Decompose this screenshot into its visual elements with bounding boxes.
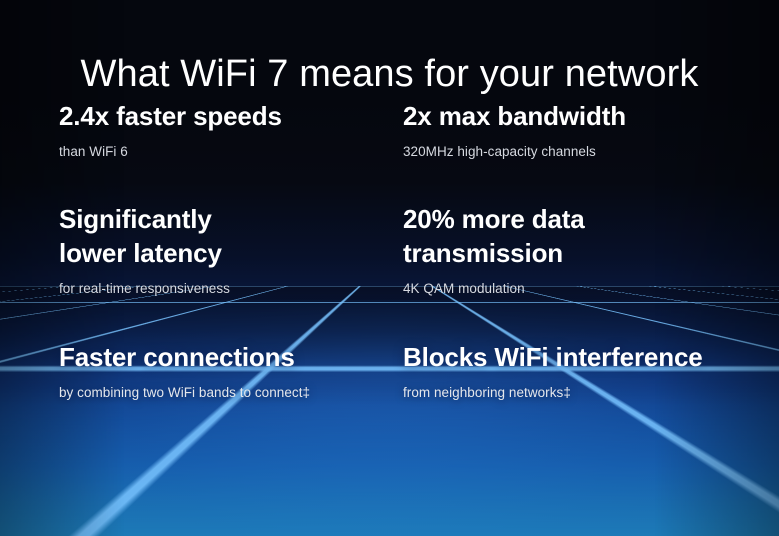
feature-title: Significantly lower latency (59, 203, 404, 271)
feature-title-line-2: transmission (403, 238, 563, 268)
feature-item-blocks-interference: Blocks WiFi interference from neighborin… (403, 341, 748, 402)
wifi7-benefits-graphic: What WiFi 7 means for your network 2.4x … (0, 0, 779, 536)
feature-subtitle: 320MHz high-capacity channels (403, 143, 748, 161)
feature-title-line-1: 20% more data (403, 204, 585, 234)
feature-title: 20% more data transmission (403, 203, 748, 271)
feature-item-max-bandwidth: 2x max bandwidth 320MHz high-capacity ch… (403, 100, 748, 161)
feature-subtitle: from neighboring networks‡ (403, 384, 748, 402)
feature-subtitle: for real-time responsiveness (59, 280, 404, 298)
feature-title: Faster connections (59, 341, 404, 375)
content-layer: What WiFi 7 means for your network 2.4x … (0, 0, 779, 536)
feature-title: Blocks WiFi interference (403, 341, 748, 375)
feature-title: 2.4x faster speeds (59, 100, 404, 134)
feature-title: 2x max bandwidth (403, 100, 748, 134)
feature-title-line-1: Significantly (59, 204, 212, 234)
page-title: What WiFi 7 means for your network (0, 52, 779, 97)
feature-item-faster-connections: Faster connections by combining two WiFi… (59, 341, 404, 402)
feature-item-faster-speeds: 2.4x faster speeds than WiFi 6 (59, 100, 404, 161)
feature-item-lower-latency: Significantly lower latency for real-tim… (59, 203, 404, 298)
feature-subtitle: by combining two WiFi bands to connect‡ (59, 384, 404, 402)
feature-item-more-data-transmission: 20% more data transmission 4K QAM modula… (403, 203, 748, 298)
feature-title-line-2: lower latency (59, 238, 222, 268)
feature-subtitle: than WiFi 6 (59, 143, 404, 161)
feature-subtitle: 4K QAM modulation (403, 280, 748, 298)
